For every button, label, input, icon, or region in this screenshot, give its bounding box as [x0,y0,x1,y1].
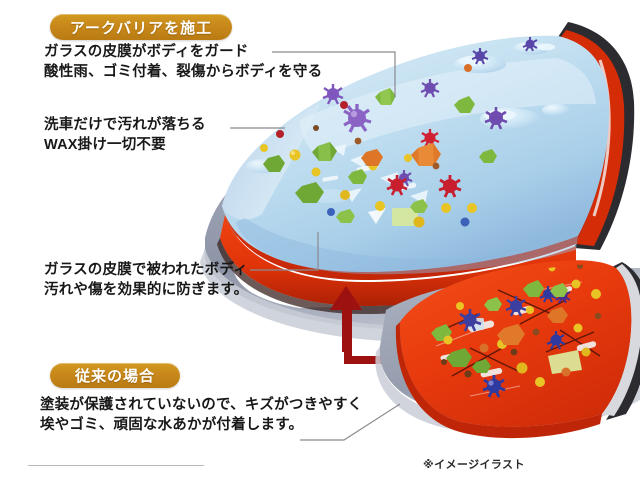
callout-line: ガラスの皮膜で被われたボディ [44,261,248,281]
callout-line: 汚れや傷を効果的に防ぎます。 [44,281,248,301]
callout-line: 酸性雨、ゴミ付着、裂傷からボディを守る [44,63,322,83]
callout-covered-body: ガラスの皮膜で被われたボディ 汚れや傷を効果的に防ぎます。 [44,261,248,300]
callout-wash-only: 洗車だけで汚れが落ちる WAX掛け一切不要 [44,116,206,155]
badge-conventional-label: 従来の場合 [75,365,155,386]
callout-line: WAX掛け一切不要 [44,136,206,156]
callout-unprotected-paint: 塗装が保護されていないので、キズがつきやすく 埃やゴミ、頑固な水あかが付着します… [40,396,362,435]
bottom-divider [28,465,204,466]
badge-arc-barrier-label: アークバリアを施工 [70,17,212,38]
callout-line: 埃やゴミ、頑固な水あかが付着します。 [40,416,362,436]
callout-line: ガラスの皮膜がボディをガード [44,43,322,63]
badge-arc-barrier: アークバリアを施工 [50,14,232,40]
callout-glass-film-guard: ガラスの皮膜がボディをガード 酸性雨、ゴミ付着、裂傷からボディを守る [44,43,322,82]
callout-line: 塗装が保護されていないので、キズがつきやすく [40,396,362,416]
image-note: ※イメージイラスト [423,456,525,472]
badge-conventional: 従来の場合 [50,363,180,388]
callout-line: 洗車だけで汚れが落ちる [44,116,206,136]
illustration-page: アークバリアを施工 ガラスの皮膜がボディをガード 酸性雨、ゴミ付着、裂傷からボデ… [0,0,640,480]
